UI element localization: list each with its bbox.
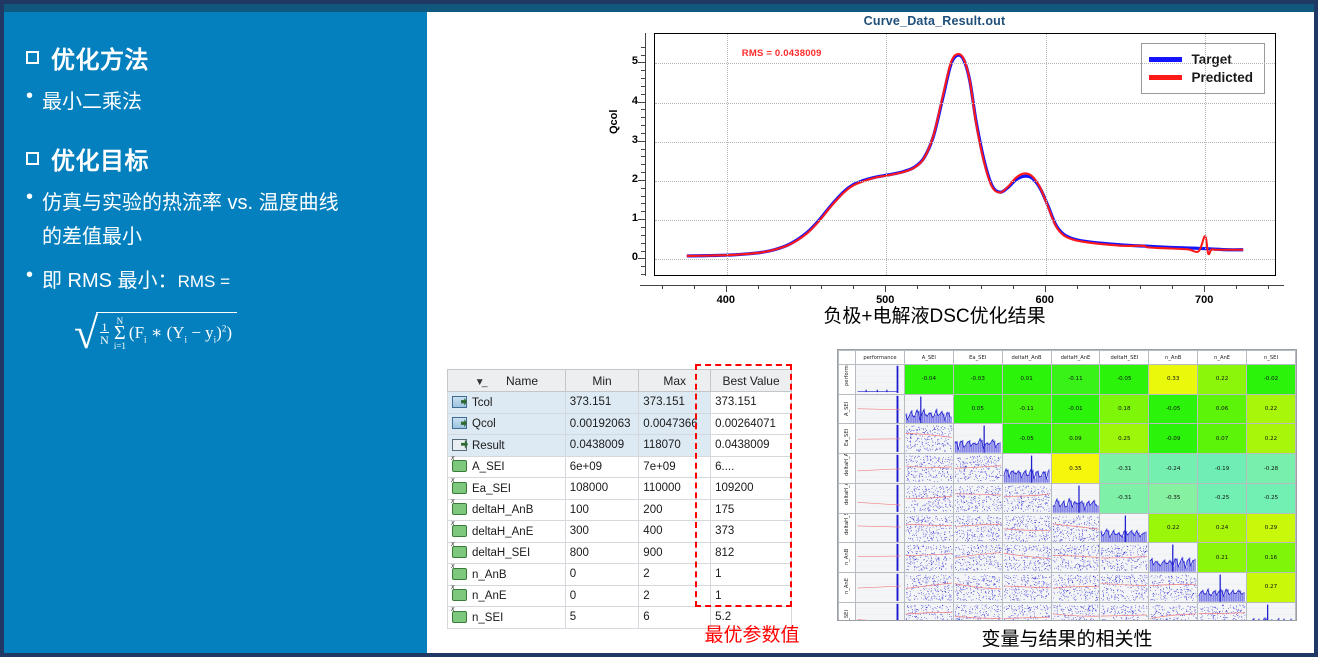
chart-y-tickmark <box>641 227 645 228</box>
parameter-table-wrap: ▼̲ Name Min Max Best Value Tcol373.15137… <box>447 369 792 629</box>
cell-max: 7e+09 <box>639 456 711 478</box>
correlation-matrix: performanceA_SEIEa_SEIdeltaH_AnBdeltaH_A… <box>837 349 1297 621</box>
chart-y-tickmark <box>641 70 645 71</box>
cell-min: 6e+09 <box>565 456 639 478</box>
formula-radicand: 1 N N Σ i=1 (Fi ∗ (Yi − yi)2) <box>96 312 237 351</box>
corr-row-header: deltaH_AnB <box>839 454 856 484</box>
bullet1-label: 最小二乘法 <box>42 85 142 119</box>
chart-plot-area: RMS = 0.0438009 Target Predicted <box>654 33 1276 276</box>
chart-x-tickmark <box>726 285 727 292</box>
var-icon <box>452 546 467 558</box>
bullet3-cn-label: 即 RMS 最小： <box>42 270 178 292</box>
bullet2-wrap: 仿真与实验的热流率 vs. 温度曲线 的差值最小 <box>42 186 339 254</box>
corr-value-cell: -0.09 <box>1149 424 1198 454</box>
result-icon <box>452 439 467 451</box>
curve-icon <box>452 396 467 408</box>
cell-min: 108000 <box>565 478 639 500</box>
corr-value-cell: -0.02 <box>1247 365 1296 395</box>
corr-row: deltaH_AnE-0.31-0.35-0.25-0.25 <box>839 483 1296 513</box>
corr-scatter-panel <box>954 543 1002 572</box>
formula-fraction: 1 N <box>100 322 109 346</box>
corr-value-cell: 0.33 <box>1149 365 1198 395</box>
cell-max: 2 <box>639 585 711 607</box>
cell-min: 0.0438009 <box>565 435 639 457</box>
corr-value-cell: -0.03 <box>953 365 1002 395</box>
corr-scatter-panel <box>905 454 953 483</box>
corr-plot-cell <box>1051 483 1100 513</box>
chart-gridline-v <box>1046 34 1047 275</box>
chart-y-tickmark <box>641 164 645 165</box>
chart-x-tickmark <box>1140 285 1141 289</box>
corr-value-cell: -0.25 <box>1198 483 1247 513</box>
corr-histogram-panel <box>1247 603 1295 621</box>
param-name-label: Tcol <box>472 397 492 409</box>
corr-plot-cell <box>904 602 953 621</box>
chart-y-ticklabel: 0 <box>616 251 638 263</box>
chart-x-tickmark <box>1045 285 1046 292</box>
table-row[interactable]: n_AnE021 <box>448 585 792 607</box>
chart-x-tickmark <box>1236 285 1237 289</box>
corr-scatter-panel <box>1003 484 1051 513</box>
chart-x-tickmark <box>1204 285 1205 292</box>
chart-y-ticklabel: 3 <box>616 134 638 146</box>
cell-name: deltaH_AnE <box>448 521 566 543</box>
chart-y-tickmark <box>641 133 645 134</box>
corr-scatter-panel <box>954 603 1002 621</box>
caption-chart: 负极+电解液DSC优化结果 <box>582 301 1287 328</box>
corr-plot-cell <box>1002 543 1051 573</box>
corr-plot-cell <box>953 513 1002 543</box>
chart-y-tickmark <box>641 78 645 79</box>
corr-plot-cell <box>953 454 1002 484</box>
chart-y-tickmark <box>638 141 645 142</box>
chart-y-axis-line <box>645 33 646 276</box>
corr-corner-cell <box>839 351 856 365</box>
chart-y-tickmark <box>638 102 645 103</box>
chart-y-tickmark <box>641 243 645 244</box>
correlation-table: performanceA_SEIEa_SEIdeltaH_AnBdeltaH_A… <box>838 350 1296 621</box>
corr-row-header: n_AnE <box>839 573 856 603</box>
corr-value-cell: 0.25 <box>1100 424 1149 454</box>
chart-y-tickmark <box>641 94 645 95</box>
cell-max: 400 <box>639 521 711 543</box>
corr-row: deltaH_SEI0.220.240.29 <box>839 513 1296 543</box>
corr-value-cell: -0.11 <box>1051 365 1100 395</box>
col-name-header[interactable]: ▼̲ Name <box>448 370 566 392</box>
formula-multiply: ∗ (Y <box>147 323 185 342</box>
cell-name: n_AnE <box>448 585 566 607</box>
chart-x-tickmark <box>1109 285 1110 289</box>
corr-value-cell: -0.01 <box>1051 394 1100 424</box>
corr-value-cell: -0.28 <box>1247 454 1296 484</box>
corr-value-cell: 0.21 <box>1198 543 1247 573</box>
chart-y-ticklabel: 5 <box>616 55 638 67</box>
corr-plot-cell <box>1198 602 1247 621</box>
corr-histogram-panel <box>1003 454 1051 483</box>
corr-plot-cell <box>953 573 1002 603</box>
correlation-body: performance-0.04-0.030.01-0.11-0.050.330… <box>839 365 1296 622</box>
top-accent-band <box>4 4 1314 12</box>
corr-plot-cell <box>1149 573 1198 603</box>
corr-plot-cell <box>1051 513 1100 543</box>
corr-plot-cell <box>1002 573 1051 603</box>
corr-row: n_AnE0.27 <box>839 573 1296 603</box>
corr-plot-cell <box>1002 602 1051 621</box>
corr-col-header: n_AnE <box>1198 351 1247 365</box>
bullet-rms-min: • 即 RMS 最小：RMS = <box>26 264 409 298</box>
corr-scatter-panel <box>856 543 904 572</box>
cell-best-value: 109200 <box>711 478 792 500</box>
chart-y-tickmark <box>638 62 645 63</box>
corr-histogram-panel <box>1052 484 1100 513</box>
table-row[interactable]: Qcol0.001920630.00473660.00264071 <box>448 413 792 435</box>
parameter-table-body: Tcol373.151373.151373.151Qcol0.001920630… <box>448 392 792 629</box>
chart-gridline-h <box>655 181 1275 182</box>
corr-row-label: A_SEI <box>844 402 850 416</box>
left-content-panel: 优化方法 • 最小二乘法 优化目标 • 仿真与实验的热流率 vs. 温度曲线 的… <box>4 12 427 653</box>
cell-best-value: 0.00264071 <box>711 413 792 435</box>
rms-formula: √ 1 N N Σ i=1 (Fi ∗ (Yi − yi)2) <box>74 312 237 351</box>
corr-plot-cell <box>856 424 905 454</box>
corr-plot-cell <box>1100 602 1149 621</box>
corr-value-cell: -0.24 <box>1149 454 1198 484</box>
corr-scatter-panel <box>856 365 904 394</box>
corr-row: performance-0.04-0.030.01-0.11-0.050.330… <box>839 365 1296 395</box>
corr-scatter-panel <box>1149 573 1197 602</box>
chart-title: Curve_Data_Result.out <box>582 14 1287 28</box>
chart-y-tickmark <box>638 180 645 181</box>
chart-y-axis-label: Qcol <box>608 110 620 134</box>
corr-plot-cell <box>1149 602 1198 621</box>
corr-row-header: performance <box>839 365 856 395</box>
table-row[interactable]: n_AnB021 <box>448 564 792 586</box>
corr-col-header: A_SEI <box>904 351 953 365</box>
bullet-least-squares: • 最小二乘法 <box>26 85 409 119</box>
corr-plot-cell <box>953 543 1002 573</box>
corr-scatter-panel <box>856 573 904 602</box>
table-row[interactable]: deltaH_SEI800900812 <box>448 542 792 564</box>
corr-scatter-panel <box>1003 514 1051 543</box>
corr-row: n_AnB0.210.16 <box>839 543 1296 573</box>
corr-plot-cell <box>856 513 905 543</box>
corr-value-cell: 0.09 <box>1051 424 1100 454</box>
cell-name: deltaH_AnB <box>448 499 566 521</box>
corr-row: Ea_SEI-0.050.090.25-0.090.070.22 <box>839 424 1296 454</box>
parameter-table-head: ▼̲ Name Min Max Best Value <box>448 370 792 392</box>
corr-scatter-panel <box>856 514 904 543</box>
corr-scatter-panel <box>1052 603 1100 621</box>
corr-row-label: n_AnE <box>844 580 850 594</box>
chart-x-tickmark <box>853 285 854 289</box>
curve-fit-chart: Curve_Data_Result.out RMS = 0.0438009 Ta… <box>582 14 1287 302</box>
param-name-label: n_AnB <box>472 569 507 581</box>
col-best-header[interactable]: Best Value <box>711 370 792 392</box>
corr-value-cell: -0.31 <box>1100 483 1149 513</box>
chart-y-tickmark <box>641 235 645 236</box>
sigma-glyph-icon: Σ <box>114 325 126 342</box>
chart-y-tickmark <box>641 125 645 126</box>
corr-scatter-panel <box>856 484 904 513</box>
corr-scatter-panel <box>905 573 953 602</box>
table-row[interactable]: deltaH_AnE300400373 <box>448 521 792 543</box>
cell-name: Ea_SEI <box>448 478 566 500</box>
corr-scatter-panel <box>856 454 904 483</box>
col-max-header[interactable]: Max <box>639 370 711 392</box>
bullet-heatflow-curve: • 仿真与实验的热流率 vs. 温度曲线 的差值最小 <box>26 186 409 254</box>
corr-scatter-panel <box>954 484 1002 513</box>
param-name-label: Ea_SEI <box>472 483 511 495</box>
cell-best-value: 6.... <box>711 456 792 478</box>
cell-best-value: 175 <box>711 499 792 521</box>
corr-histogram-panel <box>1198 573 1246 602</box>
spacer <box>26 119 409 141</box>
corr-value-cell: 0.22 <box>1247 424 1296 454</box>
legend-swatch-target <box>1149 57 1182 62</box>
corr-plot-cell <box>1247 602 1296 621</box>
corr-row-header: Ea_SEI <box>839 424 856 454</box>
summation-operator: N Σ i=1 <box>114 317 126 351</box>
corr-plot-cell <box>953 483 1002 513</box>
cell-name: deltaH_SEI <box>448 542 566 564</box>
legend-swatch-predicted <box>1149 75 1182 80</box>
corr-value-cell: -0.11 <box>1002 394 1051 424</box>
table-row[interactable]: Ea_SEI108000110000109200 <box>448 478 792 500</box>
param-name-label: A_SEI <box>472 461 505 473</box>
corr-value-cell: -0.25 <box>1247 483 1296 513</box>
chart-y-ticklabel: 1 <box>616 212 638 224</box>
corr-scatter-panel <box>1052 573 1100 602</box>
param-name-label: Result <box>472 440 505 452</box>
corr-plot-cell <box>904 573 953 603</box>
corr-scatter-panel <box>1149 603 1197 621</box>
cell-max: 110000 <box>639 478 711 500</box>
table-row[interactable]: A_SEI6e+097e+096.... <box>448 456 792 478</box>
cell-best-value: 373.151 <box>711 392 792 414</box>
corr-plot-cell <box>904 424 953 454</box>
chart-gridline-h <box>655 259 1275 260</box>
corr-scatter-panel <box>954 573 1002 602</box>
corr-scatter-panel <box>1052 543 1100 572</box>
chart-x-tickmark <box>1013 285 1014 289</box>
corr-plot-cell <box>1100 543 1149 573</box>
chart-gridline-v <box>886 34 887 275</box>
corr-value-cell: 0.22 <box>1149 513 1198 543</box>
chart-y-ticklabel: 2 <box>616 173 638 185</box>
corr-value-cell: 0.27 <box>1247 573 1296 603</box>
chart-x-axis-line <box>640 285 1284 286</box>
cell-min: 300 <box>565 521 639 543</box>
corr-value-cell: 0.35 <box>1051 454 1100 484</box>
corr-plot-cell <box>904 513 953 543</box>
cell-best-value: 812 <box>711 542 792 564</box>
col-min-header[interactable]: Min <box>565 370 639 392</box>
table-row[interactable]: Tcol373.151373.151373.151 <box>448 392 792 414</box>
corr-scatter-panel <box>1003 603 1051 621</box>
corr-plot-cell <box>1100 513 1149 543</box>
formula-minus: − y <box>187 323 214 342</box>
corr-row: deltaH_AnB0.35-0.31-0.24-0.19-0.28 <box>839 454 1296 484</box>
cell-name: Result <box>448 435 566 457</box>
corr-row-label: deltaH_AnB <box>844 462 850 476</box>
chart-legend: Target Predicted <box>1141 43 1265 94</box>
dot-bullet-icon: • <box>26 85 42 107</box>
corr-plot-cell <box>904 543 953 573</box>
corr-histogram-panel <box>954 424 1002 453</box>
var-icon <box>452 460 467 472</box>
chart-x-tickmark <box>662 285 663 289</box>
corr-scatter-panel <box>856 395 904 424</box>
corr-value-cell: -0.19 <box>1198 454 1247 484</box>
heading1-label: 优化方法 <box>51 40 149 75</box>
chart-gridline-v <box>727 34 728 275</box>
corr-scatter-panel <box>954 454 1002 483</box>
corr-plot-cell <box>856 454 905 484</box>
corr-plot-cell <box>1002 454 1051 484</box>
corr-row-header: deltaH_SEI <box>839 513 856 543</box>
dot-bullet-icon: • <box>26 186 42 208</box>
corr-col-header: deltaH_SEI <box>1100 351 1149 365</box>
chart-y-tickmark <box>641 149 645 150</box>
corr-plot-cell <box>953 424 1002 454</box>
chart-y-tickmark <box>641 251 645 252</box>
corr-row-header: deltaH_AnE <box>839 483 856 513</box>
chart-y-tickmark <box>641 211 645 212</box>
corr-scatter-panel <box>856 424 904 453</box>
cell-min: 0 <box>565 585 639 607</box>
corr-scatter-panel <box>905 543 953 572</box>
corr-value-cell: 0.01 <box>1002 365 1051 395</box>
chart-x-tickmark <box>1077 285 1078 289</box>
var-icon <box>452 568 467 580</box>
corr-scatter-panel <box>905 603 953 621</box>
chart-y-ticklabel: 4 <box>616 95 638 107</box>
radical-sign-icon: √ <box>74 316 98 351</box>
corr-value-cell: -0.05 <box>1002 424 1051 454</box>
cell-max: 900 <box>639 542 711 564</box>
correlation-head: performanceA_SEIEa_SEIdeltaH_AnBdeltaH_A… <box>839 351 1296 365</box>
corr-plot-cell <box>856 573 905 603</box>
chart-x-tickmark <box>917 285 918 289</box>
var-icon <box>452 589 467 601</box>
curve-icon <box>452 417 467 429</box>
cell-name: Tcol <box>448 392 566 414</box>
corr-plot-cell <box>1051 543 1100 573</box>
table-row[interactable]: Result0.04380091180700.0438009 <box>448 435 792 457</box>
cell-name: Qcol <box>448 413 566 435</box>
chart-y-tickmark <box>641 188 645 189</box>
corr-col-header: Ea_SEI <box>953 351 1002 365</box>
chart-gridline-v <box>1205 34 1206 275</box>
corr-plot-cell <box>953 602 1002 621</box>
chart-y-tickmark <box>641 55 645 56</box>
chart-x-tickmark <box>949 285 950 289</box>
var-icon <box>452 503 467 515</box>
chart-x-tickmark <box>821 285 822 289</box>
chart-y-tickmark <box>641 47 645 48</box>
corr-plot-cell <box>1100 573 1149 603</box>
corr-plot-cell <box>856 602 905 621</box>
corr-col-header: n_SEI <box>1247 351 1296 365</box>
corr-value-cell: 0.22 <box>1198 365 1247 395</box>
param-name-label: deltaH_AnE <box>472 526 533 538</box>
corr-row-header: A_SEI <box>839 394 856 424</box>
cell-best-value: 1 <box>711 564 792 586</box>
bullet2-line2: 的差值最小 <box>42 226 142 248</box>
chart-y-tickmark <box>641 117 645 118</box>
corr-row-label: Ea_SEI <box>844 432 850 446</box>
chart-gridline-h <box>655 142 1275 143</box>
var-icon <box>452 611 467 623</box>
corr-row-label: deltaH_SEI <box>844 521 850 535</box>
cell-best-value: 1 <box>711 585 792 607</box>
corr-plot-cell <box>904 483 953 513</box>
corr-row-label: n_SEI <box>844 610 850 621</box>
corr-row: A_SEI0.05-0.11-0.010.18-0.050.060.22 <box>839 394 1296 424</box>
legend-label-target: Target <box>1191 52 1231 67</box>
chart-x-tickmark <box>1172 285 1173 289</box>
cell-min: 373.151 <box>565 392 639 414</box>
caption-correlation: 变量与结果的相关性 <box>837 624 1297 651</box>
table-row[interactable]: deltaH_AnB100200175 <box>448 499 792 521</box>
correlation-header-row: performanceA_SEIEa_SEIdeltaH_AnBdeltaH_A… <box>839 351 1296 365</box>
filter-icon[interactable]: ▼̲ <box>475 377 485 388</box>
chart-y-tickmark <box>641 86 645 87</box>
formula-open-paren: (F <box>129 323 144 342</box>
param-name-label: deltaH_AnB <box>472 504 533 516</box>
bullet3-rms-label: RMS = <box>178 272 230 291</box>
corr-value-cell: -0.05 <box>1149 394 1198 424</box>
caption-best-params: 最优参数值 <box>662 620 842 647</box>
corr-value-cell: 0.24 <box>1198 513 1247 543</box>
corr-value-cell: 0.07 <box>1198 424 1247 454</box>
corr-value-cell: 0.18 <box>1100 394 1149 424</box>
var-icon <box>452 482 467 494</box>
var-icon <box>452 525 467 537</box>
dot-bullet-icon: • <box>26 264 42 286</box>
chart-y-tickmark <box>641 172 645 173</box>
corr-plot-cell <box>904 394 953 424</box>
corr-row-label: deltaH_AnE <box>844 491 850 505</box>
corr-col-header: deltaH_AnB <box>1002 351 1051 365</box>
chart-gridline-h <box>655 103 1275 104</box>
chart-x-tickmark <box>981 285 982 289</box>
corr-scatter-panel <box>1100 573 1148 602</box>
legend-label-predicted: Predicted <box>1191 70 1253 85</box>
corr-histogram-panel <box>1100 514 1148 543</box>
corr-scatter-panel <box>1198 603 1246 621</box>
square-bullet-icon <box>26 152 39 165</box>
corr-scatter-panel <box>905 424 953 453</box>
sigma-lower-limit: i=1 <box>114 342 126 351</box>
cell-name: n_AnB <box>448 564 566 586</box>
corr-plot-cell <box>904 454 953 484</box>
corr-histogram-panel <box>905 395 953 424</box>
corr-scatter-panel <box>1100 603 1148 621</box>
cell-max: 118070 <box>639 435 711 457</box>
chart-x-tickmark <box>790 285 791 289</box>
cell-max: 373.151 <box>639 392 711 414</box>
corr-value-cell: 0.06 <box>1198 394 1247 424</box>
cell-best-value: 0.0438009 <box>711 435 792 457</box>
corr-value-cell: -0.04 <box>904 365 953 395</box>
col-name-label: Name <box>506 374 538 388</box>
chart-y-tickmark <box>641 266 645 267</box>
cell-name: n_SEI <box>448 607 566 629</box>
corr-value-cell: 0.05 <box>953 394 1002 424</box>
cell-min: 0 <box>565 564 639 586</box>
corr-scatter-panel <box>905 514 953 543</box>
param-name-label: n_SEI <box>472 612 503 624</box>
